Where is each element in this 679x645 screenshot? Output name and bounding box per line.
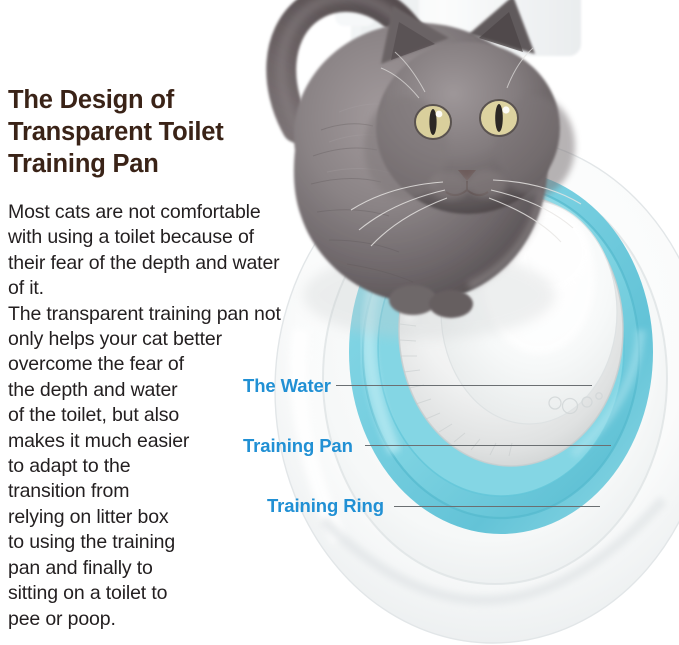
- product-photo: [243, 0, 679, 645]
- page-title: The Design of Transparent Toilet Trainin…: [8, 84, 270, 180]
- infographic-page: The Design of Transparent Toilet Trainin…: [0, 0, 679, 645]
- callout-label-training-ring: Training Ring: [267, 495, 384, 517]
- callout-label-the-water: The Water: [243, 375, 331, 397]
- leader-line-training-ring: [394, 506, 600, 507]
- leader-line-water: [336, 385, 592, 386]
- body-paragraph: Most cats are not comfortable with using…: [8, 200, 308, 632]
- leader-line-training-pan: [365, 445, 611, 446]
- callout-label-training-pan: Training Pan: [243, 435, 353, 457]
